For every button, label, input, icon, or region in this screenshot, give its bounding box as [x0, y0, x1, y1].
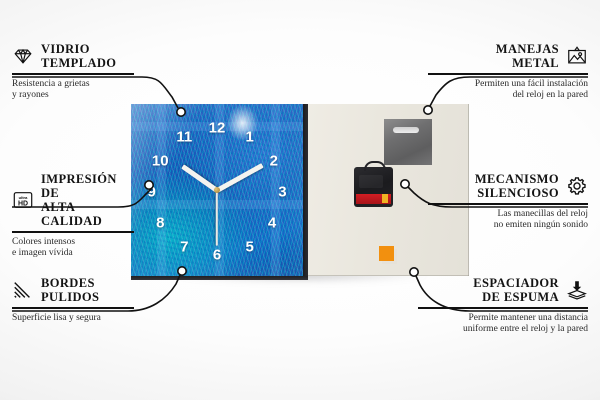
- clock-numeral-8: 8: [156, 215, 164, 230]
- gear-icon: [566, 175, 588, 197]
- callout-rule: [12, 231, 134, 233]
- clock-center-pin: [214, 187, 220, 193]
- clock-second-hand: [216, 190, 218, 246]
- callout-title: Manejas Metal: [496, 42, 559, 70]
- movement-hanging-loop: [364, 161, 386, 171]
- clock-numeral-10: 10: [152, 153, 169, 168]
- hanger-slot: [393, 127, 419, 133]
- clock-numeral-5: 5: [246, 239, 254, 254]
- clock-front-face: 12 1 2 3 4 5 6 7 8 9 10 11: [131, 104, 303, 276]
- callout-description: Permiten una fácil instalación del reloj…: [428, 79, 588, 102]
- clock-numeral-3: 3: [278, 184, 286, 199]
- callout-title: Bordes Pulidos: [41, 276, 99, 304]
- callout-title: Impresión de Alta Calidad: [41, 172, 134, 228]
- callout-rule: [12, 307, 134, 309]
- callout-rule: [428, 203, 588, 205]
- polished-edges-icon: [12, 279, 34, 301]
- callout-manejas-metal[interactable]: Manejas Metal Permiten una fácil instala…: [428, 42, 588, 102]
- clock-numeral-1: 1: [246, 129, 254, 144]
- foam-spacer-icon: [566, 279, 588, 301]
- clock-numeral-2: 2: [270, 153, 278, 168]
- quartz-movement: [354, 167, 393, 207]
- clock-numeral-6: 6: [213, 248, 221, 263]
- callout-description: Permite mantener una distancia uniforme …: [418, 313, 588, 336]
- callout-mecanismo-silencioso[interactable]: Mecanismo Silencioso Las manecillas del …: [428, 172, 588, 232]
- svg-text:ultra: ultra: [19, 195, 28, 200]
- callout-espaciador-de-espuma[interactable]: Espaciador de Espuma Permite mantener un…: [418, 276, 588, 336]
- clock-numeral-9: 9: [147, 184, 155, 199]
- clock-numeral-4: 4: [268, 215, 276, 230]
- callout-bordes-pulidos[interactable]: Bordes Pulidos Superficie lisa y segura: [12, 276, 134, 324]
- clock-numeral-7: 7: [180, 239, 188, 254]
- movement-label: [356, 194, 391, 204]
- callout-description: Colores intensos e imagen vívida: [12, 237, 134, 260]
- callout-rule: [12, 73, 134, 75]
- callout-title: Mecanismo Silencioso: [475, 172, 559, 200]
- infographic-canvas: 12 1 2 3 4 5 6 7 8 9 10 11: [0, 0, 600, 400]
- movement-body-detail: [359, 175, 383, 188]
- movement-label-chip: [382, 194, 388, 203]
- callout-description: Superficie lisa y segura: [12, 313, 134, 325]
- callout-title: Vidrio Templado: [41, 42, 116, 70]
- callout-description: Las manecillas del reloj no emiten ningú…: [428, 209, 588, 232]
- callout-rule: [428, 73, 588, 75]
- clock-numeral-12: 12: [209, 121, 226, 136]
- metal-hanger-plate: [384, 119, 432, 165]
- callout-title: Espaciador de Espuma: [473, 276, 559, 304]
- callout-rule: [418, 307, 588, 309]
- callout-vidrio-templado[interactable]: Vidrio Templado Resistencia a grietas y …: [12, 42, 134, 102]
- foam-spacer: [379, 246, 394, 261]
- glass-edge-bottom: [131, 276, 308, 280]
- callout-description: Resistencia a grietas y rayones: [12, 79, 134, 102]
- glass-glare: [220, 97, 265, 149]
- wall-hanger-frame-icon: [566, 45, 588, 67]
- callout-impresion-alta-calidad[interactable]: ultra HD Impresión de Alta Calidad Color…: [12, 172, 134, 260]
- clock-hour-hand: [181, 164, 218, 192]
- product-photo: 12 1 2 3 4 5 6 7 8 9 10 11: [131, 104, 469, 276]
- svg-text:HD: HD: [18, 201, 28, 208]
- clock-numeral-11: 11: [176, 129, 192, 144]
- ultra-hd-icon: ultra HD: [12, 189, 34, 211]
- diamond-icon: [12, 45, 34, 67]
